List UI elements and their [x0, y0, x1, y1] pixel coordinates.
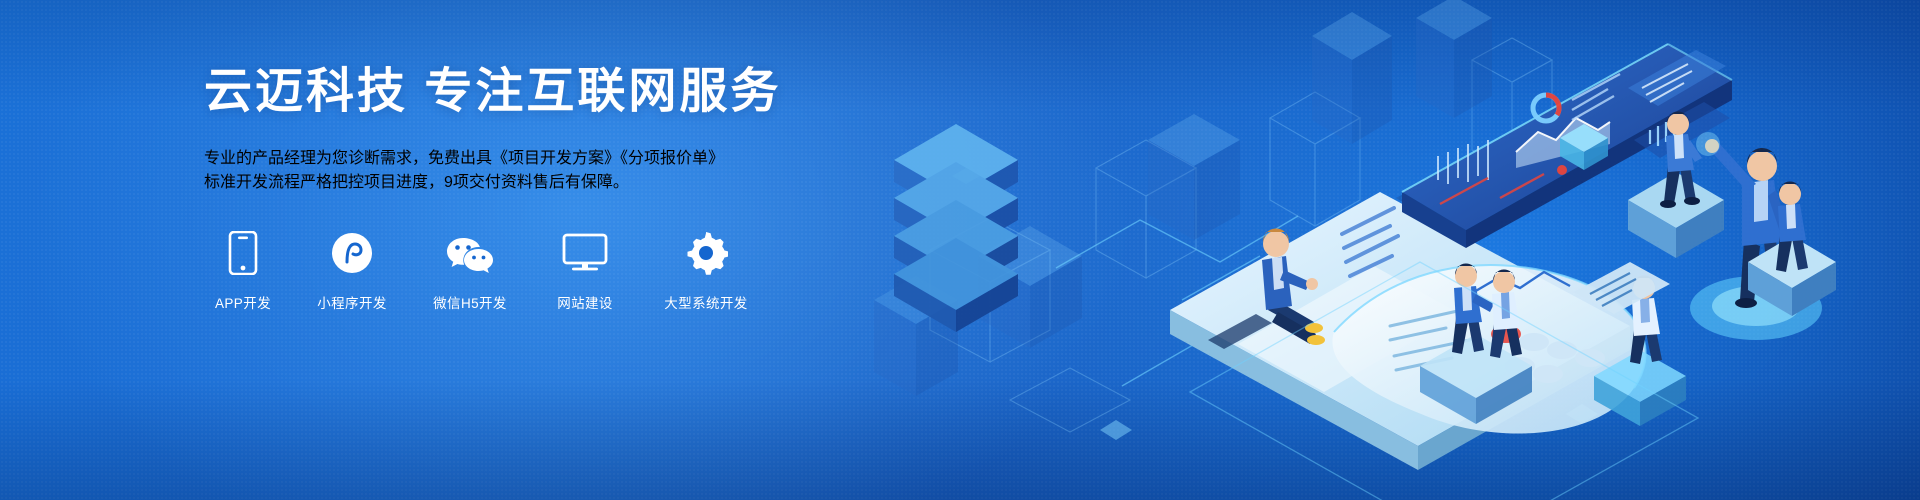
page-title: 云迈科技 专注互联网服务 [204, 62, 964, 122]
hero-subtitle-line-2: 标准开发流程严格把控项目进度，9项交付资料售后有保障。 [204, 168, 964, 192]
hero-subtitle-line-1: 专业的产品经理为您诊断需求，免费出具《项目开发方案》《分项报价单》 [204, 144, 964, 168]
wechat-icon [422, 228, 518, 278]
service-label: 大型系统开发 [652, 292, 760, 312]
monitor-icon [542, 228, 628, 278]
service-item-wechat-h5[interactable]: 微信H5开发 [422, 228, 518, 312]
service-icon-row: APP开发 小程序开发 微信 [204, 228, 760, 312]
gear-icon [652, 228, 760, 278]
hero-banner: 云迈科技 专注互联网服务 专业的产品经理为您诊断需求，免费出具《项目开发方案》《… [0, 0, 1920, 500]
service-item-app[interactable]: APP开发 [204, 228, 282, 312]
service-item-large-system[interactable]: 大型系统开发 [652, 228, 760, 312]
hero-copy: 云迈科技 专注互联网服务 专业的产品经理为您诊断需求，免费出具《项目开发方案》《… [204, 62, 964, 208]
mini-program-icon [306, 228, 398, 278]
isometric-tech-illustration [860, 0, 1920, 500]
service-label: 微信H5开发 [422, 292, 518, 312]
service-label: 小程序开发 [306, 292, 398, 312]
service-label: 网站建设 [542, 292, 628, 312]
service-item-mini-program[interactable]: 小程序开发 [306, 228, 398, 312]
service-label: APP开发 [204, 292, 282, 312]
mobile-phone-icon [204, 228, 282, 278]
service-item-website[interactable]: 网站建设 [542, 228, 628, 312]
